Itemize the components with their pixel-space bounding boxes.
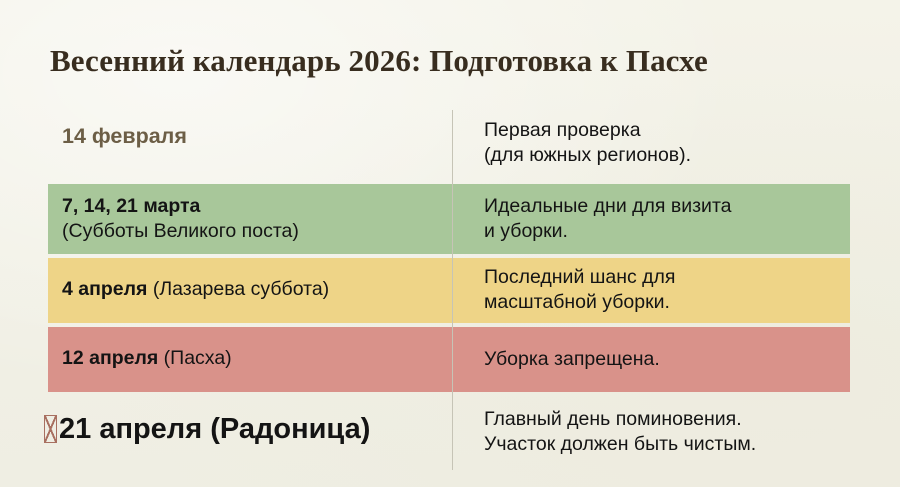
column-divider xyxy=(452,110,453,470)
row-date-cell: 12 апреля (Пасха) xyxy=(62,346,442,371)
table-row: 14 февраля Первая проверка (для южных ре… xyxy=(0,104,900,182)
row-date-rest-part: (Лазарева суббота) xyxy=(147,278,329,300)
row-note-cell: Главный день поминовения. Участок должен… xyxy=(484,407,884,457)
calendar-table: 14 февраля Первая проверка (для южных ре… xyxy=(0,104,900,474)
row-date-primary: 12 апреля (Пасха) xyxy=(62,346,442,371)
row-note-cell: Идеальные дни для визита и уборки. xyxy=(484,194,884,244)
row-date-bold-part: 21 апреля (Радоница) xyxy=(59,413,370,445)
row-note-cell: Уборка запрещена. xyxy=(484,347,884,372)
row-note-line-2: (для южных регионов). xyxy=(484,143,884,168)
row-date-secondary: (Субботы Великого поста) xyxy=(62,219,442,244)
row-date-cell: 4 апреля (Лазарева суббота) xyxy=(62,277,442,302)
row-date-primary: 4 апреля (Лазарева суббота) xyxy=(62,277,442,302)
row-note-line-2: и уборки. xyxy=(484,219,884,244)
row-date-cell: 7, 14, 21 марта (Субботы Великого поста) xyxy=(62,194,442,244)
row-note-line-1: Уборка запрещена. xyxy=(484,347,884,372)
row-note-cell: Первая проверка (для южных регионов). xyxy=(484,118,884,168)
row-date-rest-part: (Пасха) xyxy=(158,347,231,369)
row-note-line-1: Последний шанс для xyxy=(484,265,884,290)
row-note-cell: Последний шанс для масштабной уборки. xyxy=(484,265,884,315)
infographic-page: Весенний календарь 2026: Подготовка к Па… xyxy=(0,0,900,487)
row-note-line-2: масштабной уборки. xyxy=(484,290,884,315)
row-note-line-1: Главный день поминовения. xyxy=(484,407,884,432)
row-date-primary: 7, 14, 21 марта xyxy=(62,194,442,219)
row-date-primary: 21 апреля (Радоница) xyxy=(44,412,464,446)
row-note-line-2: Участок должен быть чистым. xyxy=(484,432,884,457)
table-row: 12 апреля (Пасха) Уборка запрещена. xyxy=(0,327,900,392)
row-note-line-1: Идеальные дни для визита xyxy=(484,194,884,219)
row-date-bold-part: 4 апреля xyxy=(62,278,147,300)
row-date-bold-part: 12 апреля xyxy=(62,347,158,369)
row-date-cell: 21 апреля (Радоница) xyxy=(44,412,464,446)
row-note-line-1: Первая проверка xyxy=(484,118,884,143)
table-row: 4 апреля (Лазарева суббота) Последний ша… xyxy=(0,258,900,323)
row-date-primary: 14 февраля xyxy=(62,124,442,149)
table-row: 21 апреля (Радоница) Главный день помино… xyxy=(0,396,900,474)
page-title: Весенний календарь 2026: Подготовка к Па… xyxy=(50,42,870,80)
table-row: 7, 14, 21 марта (Субботы Великого поста)… xyxy=(0,184,900,254)
row-date-cell: 14 февраля xyxy=(62,124,442,149)
missing-glyph-box-icon xyxy=(44,415,57,443)
